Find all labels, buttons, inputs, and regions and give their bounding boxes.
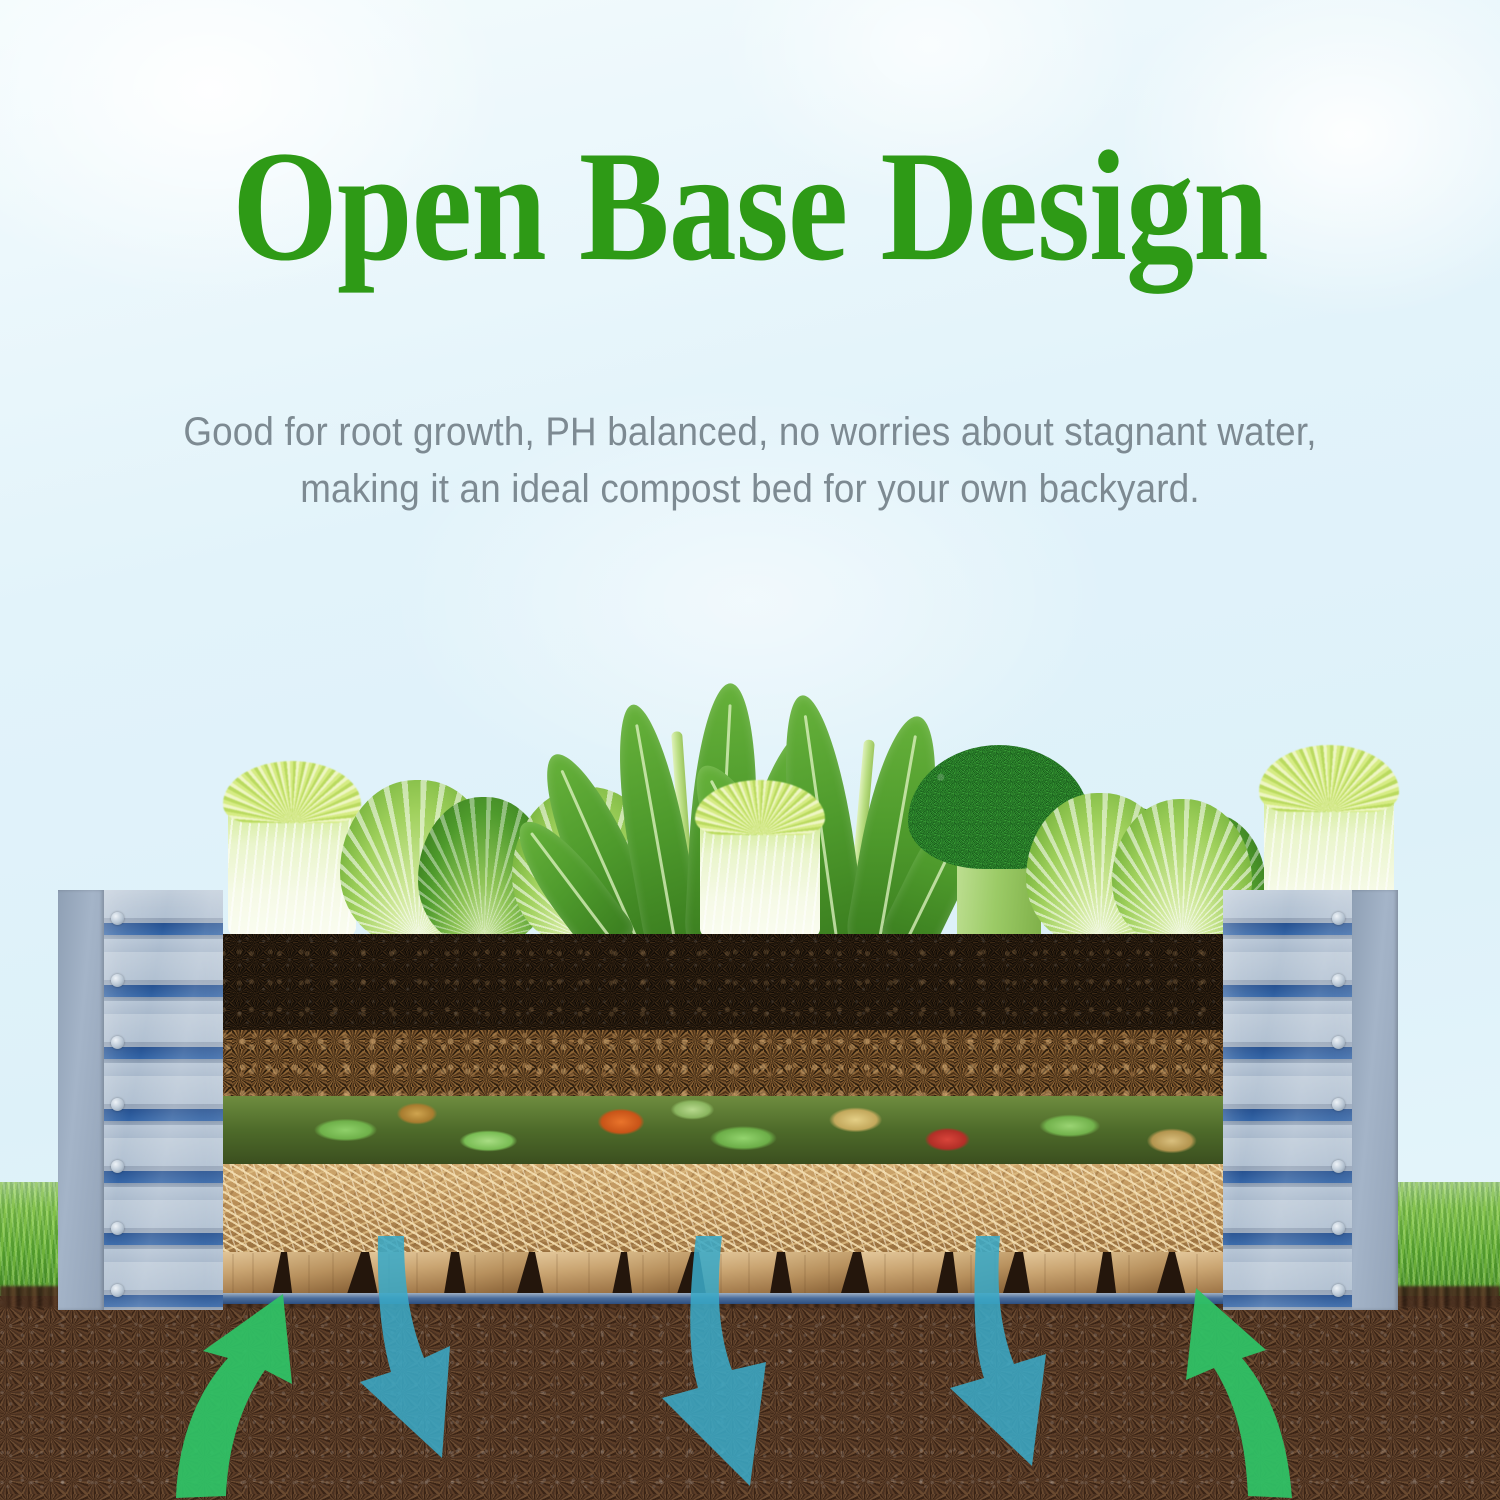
compost-soil-layer (213, 934, 1233, 1030)
napa-cabbage-1 (228, 765, 356, 945)
nutrient-arrow-up-left (176, 1294, 292, 1498)
drainage-arrow-down-1 (360, 1236, 450, 1458)
screw-icon (1332, 912, 1345, 925)
screw-icon (111, 1098, 124, 1111)
nutrient-arrow-up-right (1186, 1288, 1292, 1498)
napa-cabbage-2 (700, 783, 820, 945)
screw-icon (1332, 1098, 1345, 1111)
screw-icon (111, 974, 124, 987)
kitchen-scraps-layer (213, 1096, 1233, 1164)
leaf-frill-icon (695, 780, 825, 835)
screw-icon (1332, 1160, 1345, 1173)
screw-icon (1332, 974, 1345, 987)
screw-icon (111, 1036, 124, 1049)
screw-icon (111, 1160, 124, 1173)
drainage-arrow-down-2 (662, 1236, 766, 1486)
screw-icon (111, 912, 124, 925)
subtitle-line-1: Good for root growth, PH balanced, no wo… (60, 404, 1440, 461)
page-title: Open Base Design (105, 128, 1395, 286)
header: Open Base Design Good for root growth, P… (0, 0, 1500, 518)
leaf-frill-icon (1259, 745, 1399, 812)
airflow-arrows (0, 1230, 1500, 1500)
subtitle-line-2: making it an ideal compost bed for your … (60, 461, 1440, 518)
drainage-arrow-down-3 (950, 1236, 1046, 1466)
mulch-layer (213, 1030, 1233, 1096)
screw-icon (1332, 1036, 1345, 1049)
page-subtitle: Good for root growth, PH balanced, no wo… (60, 404, 1440, 518)
